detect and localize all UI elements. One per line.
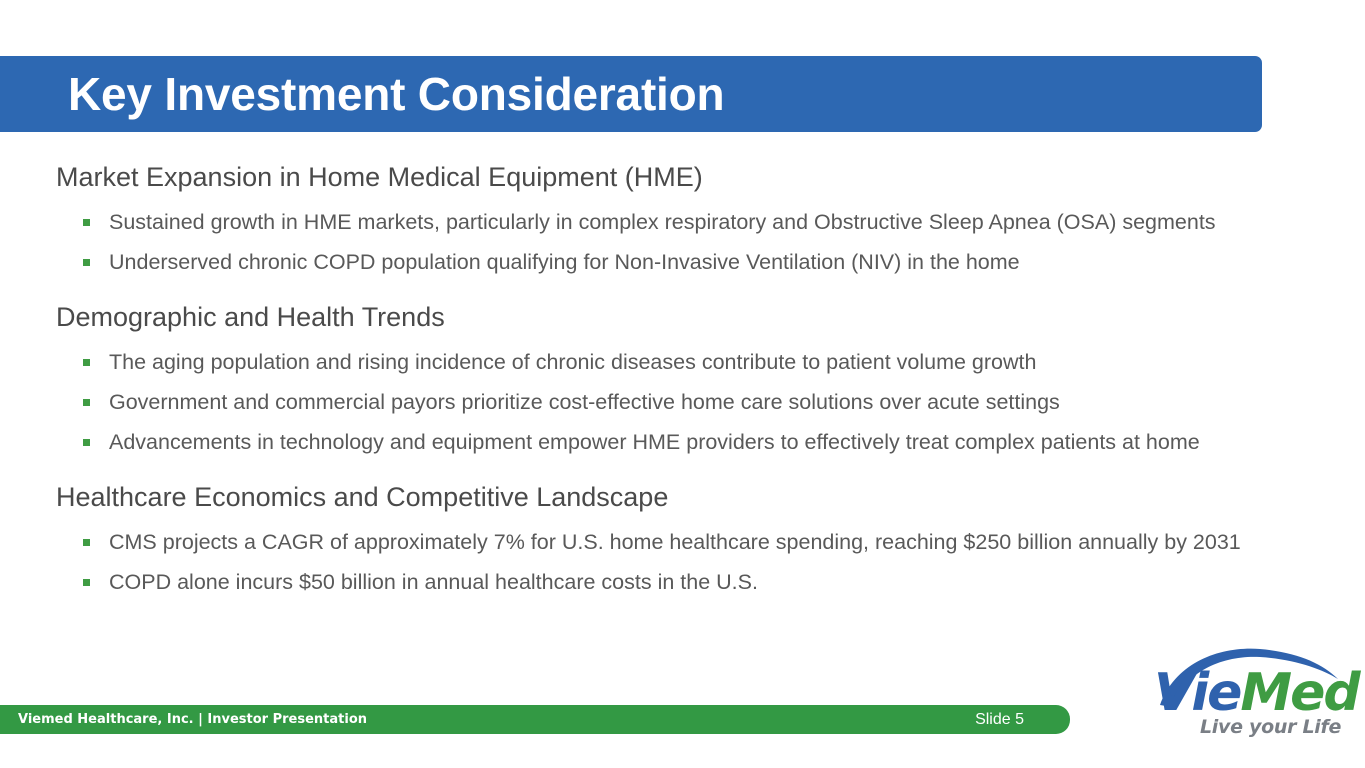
list-item: Advancements in technology and equipment… bbox=[56, 422, 1336, 462]
slide: Key Investment Consideration Market Expa… bbox=[0, 0, 1365, 768]
content-section: Healthcare Economics and Competitive Lan… bbox=[56, 480, 1336, 602]
list-item-text: Government and commercial payors priorit… bbox=[109, 390, 1060, 414]
section-heading: Healthcare Economics and Competitive Lan… bbox=[56, 480, 1336, 514]
square-bullet-icon bbox=[83, 259, 90, 266]
content-section: Demographic and Health Trends The aging … bbox=[56, 300, 1336, 462]
bullet-list: CMS projects a CAGR of approximately 7% … bbox=[56, 522, 1336, 602]
square-bullet-icon bbox=[83, 539, 90, 546]
page-title: Key Investment Consideration bbox=[68, 71, 724, 117]
bullet-list: The aging population and rising incidenc… bbox=[56, 342, 1336, 462]
logo-word-med: Med bbox=[1240, 663, 1358, 723]
logo-tagline: Live your Life bbox=[1200, 718, 1341, 737]
viemed-logo: VieMed Live your Life bbox=[1152, 645, 1342, 750]
square-bullet-icon bbox=[83, 219, 90, 226]
list-item: Underserved chronic COPD population qual… bbox=[56, 242, 1336, 282]
footer-company-label: Viemed Healthcare, Inc. | Investor Prese… bbox=[18, 705, 367, 734]
list-item-text: CMS projects a CAGR of approximately 7% … bbox=[109, 530, 1241, 554]
content-section: Market Expansion in Home Medical Equipme… bbox=[56, 160, 1336, 282]
square-bullet-icon bbox=[83, 359, 90, 366]
square-bullet-icon bbox=[83, 439, 90, 446]
list-item: Government and commercial payors priorit… bbox=[56, 382, 1336, 422]
list-item-text: Sustained growth in HME markets, particu… bbox=[109, 210, 1216, 234]
slide-body: Market Expansion in Home Medical Equipme… bbox=[56, 160, 1336, 602]
list-item: The aging population and rising incidenc… bbox=[56, 342, 1336, 382]
list-item-text: Underserved chronic COPD population qual… bbox=[109, 250, 1020, 274]
section-heading: Market Expansion in Home Medical Equipme… bbox=[56, 160, 1336, 194]
logo-word-vie: Vie bbox=[1154, 663, 1240, 723]
list-item-text: The aging population and rising incidenc… bbox=[109, 350, 1036, 374]
square-bullet-icon bbox=[83, 399, 90, 406]
list-item-text: Advancements in technology and equipment… bbox=[109, 430, 1200, 454]
list-item: Sustained growth in HME markets, particu… bbox=[56, 202, 1336, 242]
list-item: CMS projects a CAGR of approximately 7% … bbox=[56, 522, 1336, 562]
square-bullet-icon bbox=[83, 579, 90, 586]
section-heading: Demographic and Health Trends bbox=[56, 300, 1336, 334]
footer-bar: Viemed Healthcare, Inc. | Investor Prese… bbox=[0, 705, 1070, 734]
slide-number-label: Slide 5 bbox=[975, 705, 1024, 734]
list-item-text: COPD alone incurs $50 billion in annual … bbox=[109, 570, 758, 594]
logo-wordmark: VieMed bbox=[1154, 667, 1359, 719]
bullet-list: Sustained growth in HME markets, particu… bbox=[56, 202, 1336, 282]
list-item: COPD alone incurs $50 billion in annual … bbox=[56, 562, 1336, 602]
slide-title-banner: Key Investment Consideration bbox=[0, 56, 1262, 132]
